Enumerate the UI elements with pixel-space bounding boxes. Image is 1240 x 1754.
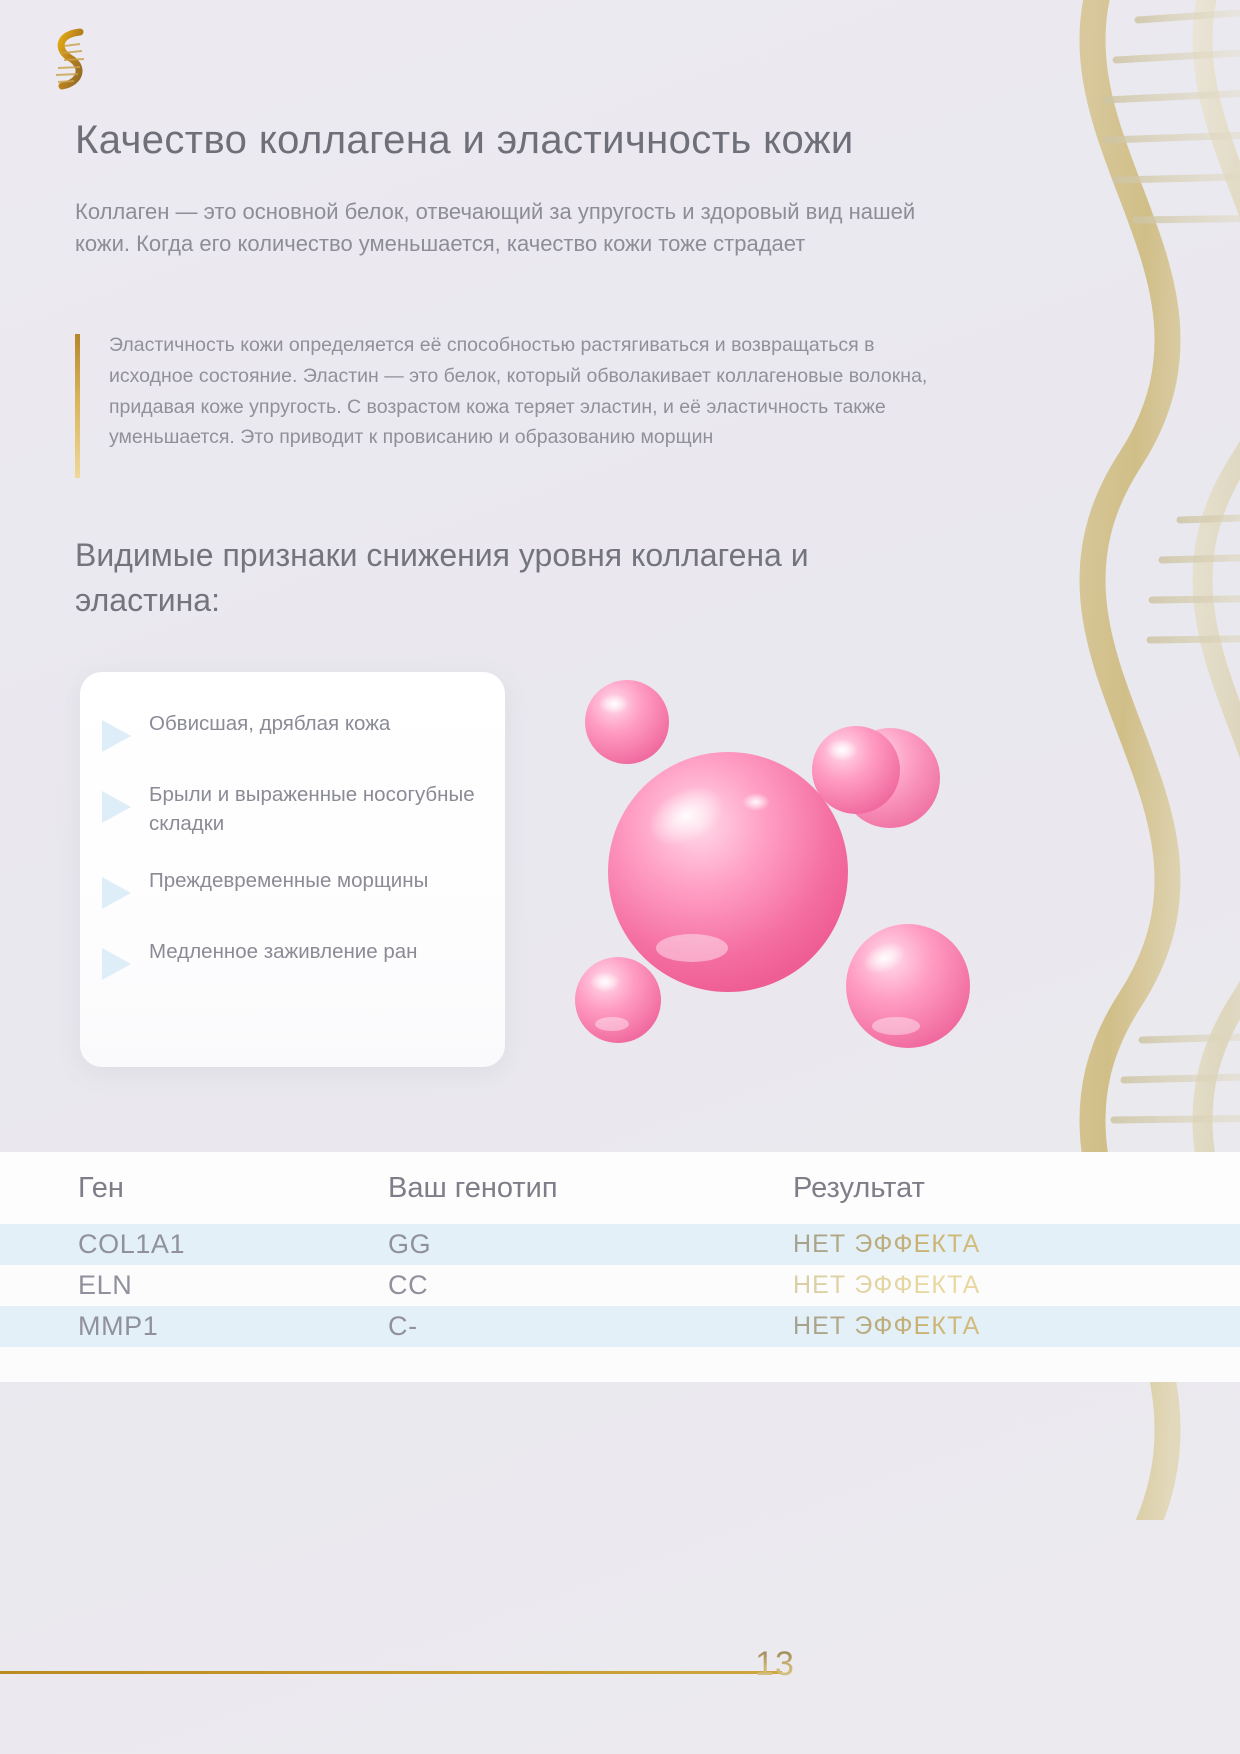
list-item-label: Брыли и выраженные носогубные складки [149,777,475,838]
list-item: Преждевременные морщины [102,863,475,909]
triangle-bullet-icon [102,948,131,980]
table-row: MMP1 C- НЕТ ЭФФЕКТА [0,1306,1240,1347]
footer-divider [0,1671,782,1674]
dna-helix-logo-icon [36,20,106,98]
cell-genotype: CC [388,1270,793,1301]
triangle-bullet-icon [102,877,131,909]
quote-text: Эластичность кожи определяется её способ… [109,330,955,453]
list-item-label: Преждевременные морщины [149,863,428,896]
list-item-label: Медленное заживление ран [149,934,417,967]
list-item: Обвисшая, дряблая кожа [102,706,475,752]
genotype-table: Ген Ваш генотип Результат COL1A1 GG НЕТ … [0,1152,1240,1347]
list-item: Медленное заживление ран [102,934,475,980]
triangle-bullet-icon [102,791,131,823]
quote-block: Эластичность кожи определяется её способ… [75,330,955,453]
signs-card: Обвисшая, дряблая кожа Брыли и выраженны… [80,672,505,1067]
column-header-result: Результат [793,1172,1173,1205]
triangle-bullet-icon [102,720,131,752]
intro-paragraph: Коллаген — это основной белок, отвечающи… [75,196,975,260]
cell-result: НЕТ ЭФФЕКТА [793,1230,1173,1259]
cell-gene: COL1A1 [78,1229,388,1260]
column-header-genotype: Ваш генотип [388,1172,793,1205]
cell-result: НЕТ ЭФФЕКТА [793,1271,1173,1300]
cell-genotype: GG [388,1229,793,1260]
table-header-row: Ген Ваш генотип Результат [0,1152,1240,1224]
page-number: 13 [735,1645,815,1684]
list-item: Брыли и выраженные носогубные складки [102,777,475,838]
cell-result: НЕТ ЭФФЕКТА [793,1312,1173,1341]
cell-gene: ELN [78,1270,388,1301]
list-item-label: Обвисшая, дряблая кожа [149,706,390,739]
table-row: COL1A1 GG НЕТ ЭФФЕКТА [0,1224,1240,1265]
pink-collagen-bubbles-icon [560,660,1030,1080]
cell-gene: MMP1 [78,1311,388,1342]
page: Качество коллагена и эластичность кожи К… [0,0,1240,1754]
column-header-gene: Ген [78,1172,388,1205]
page-title: Качество коллагена и эластичность кожи [75,118,975,163]
signs-heading: Видимые признаки снижения уровня коллаге… [75,533,855,623]
cell-genotype: C- [388,1311,793,1342]
table-row: ELN CC НЕТ ЭФФЕКТА [0,1265,1240,1306]
